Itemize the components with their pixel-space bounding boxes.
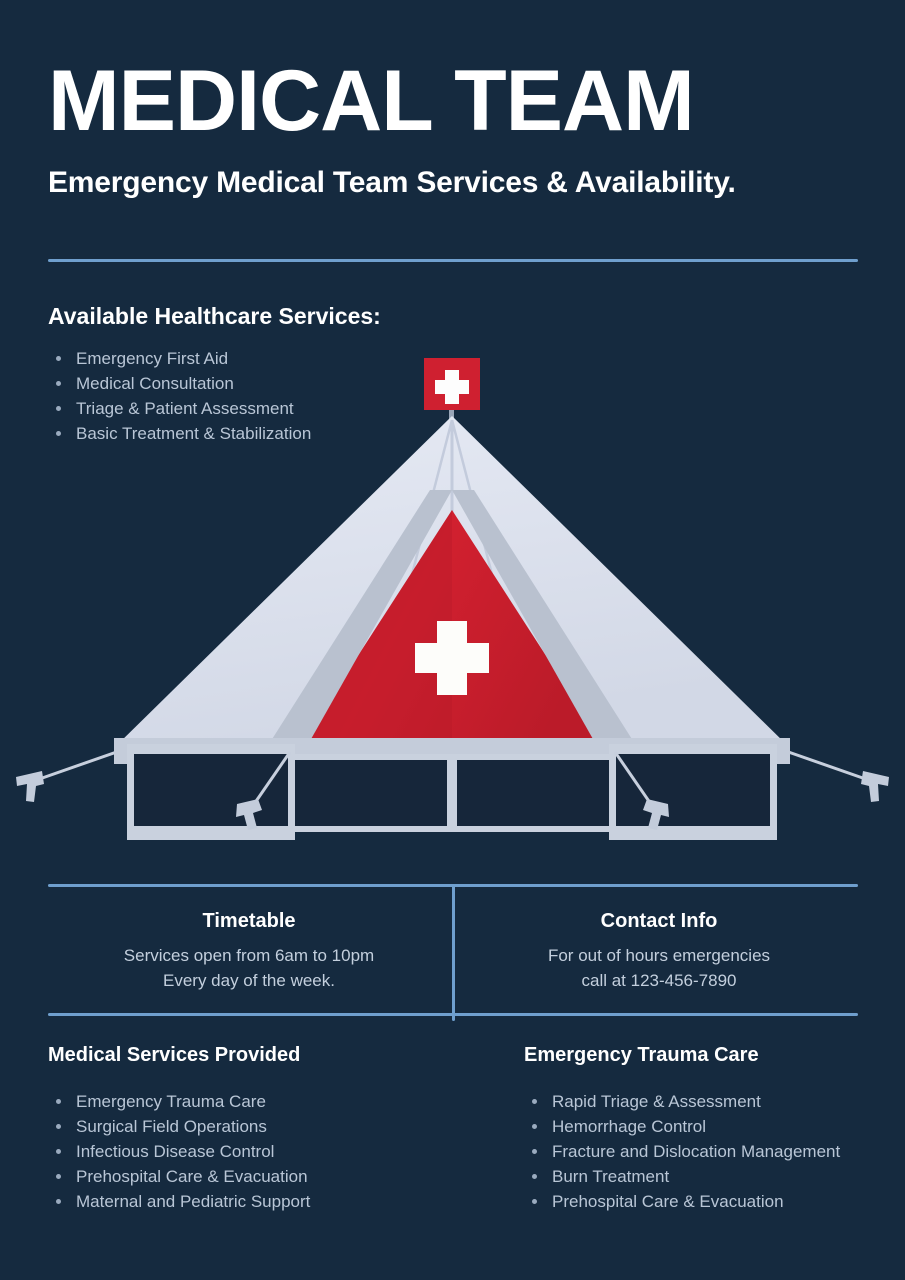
tent-wall-right [609,744,777,840]
contact-info-section: Contact Info For out of hours emergencie… [460,910,858,993]
list-item: Infectious Disease Control [48,1139,488,1164]
contact-info-line-1: For out of hours emergencies [460,943,858,968]
list-item: Burn Treatment [524,1164,884,1189]
flag-icon [424,358,480,410]
timetable-section: Timetable Services open from 6am to 10pm… [48,910,450,993]
list-item: Rapid Triage & Assessment [524,1089,884,1114]
medical-services-provided-heading: Medical Services Provided [48,1044,488,1067]
tent-interior-center [288,754,616,832]
page-subtitle: Emergency Medical Team Services & Availa… [48,144,858,200]
info-divider-vertical [452,884,455,1021]
poster-header: MEDICAL TEAM Emergency Medical Team Serv… [48,58,858,200]
tent-wall-left [127,744,295,840]
emergency-trauma-care-section: Emergency Trauma Care Rapid Triage & Ass… [524,1044,884,1214]
contact-phone: call at 123-456-7890 [460,968,858,993]
timetable-title: Timetable [48,910,450,933]
emergency-trauma-care-heading: Emergency Trauma Care [524,1044,884,1067]
timetable-line-1: Services open from 6am to 10pm [48,943,450,968]
timetable-line-2: Every day of the week. [48,968,450,993]
medical-tent-illustration [0,340,905,860]
list-item: Prehospital Care & Evacuation [48,1164,488,1189]
list-item: Hemorrhage Control [524,1114,884,1139]
tent-stake-right [861,771,889,802]
list-item: Surgical Field Operations [48,1114,488,1139]
header-divider [48,259,858,262]
info-divider-bottom [48,1013,858,1016]
list-item: Prehospital Care & Evacuation [524,1189,884,1214]
page-title: MEDICAL TEAM [48,58,858,144]
medical-services-provided-list: Emergency Trauma Care Surgical Field Ope… [48,1089,488,1214]
available-services-heading: Available Healthcare Services: [48,303,478,330]
list-item: Maternal and Pediatric Support [48,1189,488,1214]
tent-stake-left [16,771,44,802]
medical-services-provided-section: Medical Services Provided Emergency Trau… [48,1044,488,1214]
list-item: Fracture and Dislocation Management [524,1139,884,1164]
list-item: Emergency Trauma Care [48,1089,488,1114]
contact-info-title: Contact Info [460,910,858,933]
poster-canvas: MEDICAL TEAM Emergency Medical Team Serv… [0,0,905,1280]
emergency-trauma-care-list: Rapid Triage & Assessment Hemorrhage Con… [524,1089,884,1214]
